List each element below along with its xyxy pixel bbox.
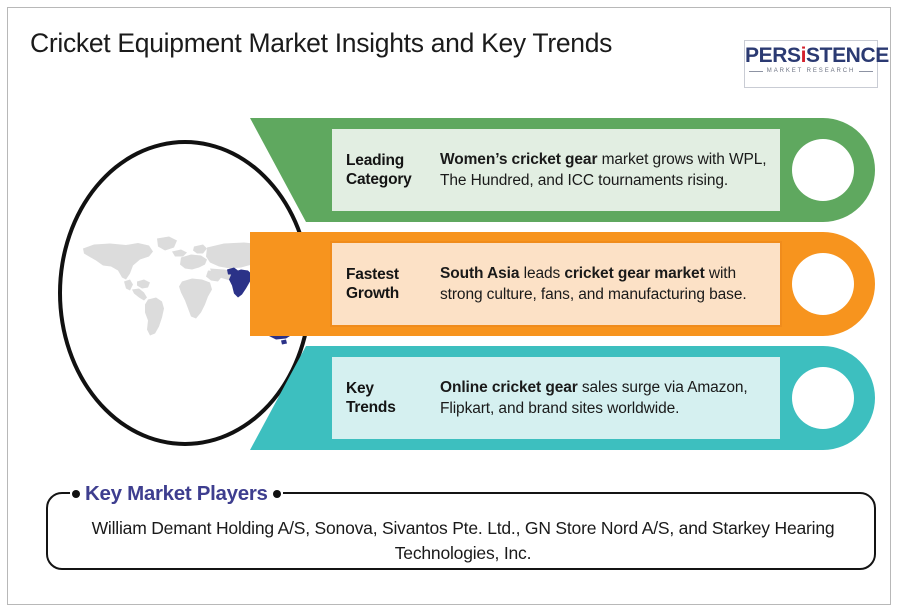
logo-subtitle: MARKET RESEARCH bbox=[767, 68, 855, 74]
logo-left-rule-icon bbox=[749, 71, 763, 72]
ribbon-category-label-line1: Leading bbox=[346, 151, 440, 170]
key-market-players-title-group: Key Market Players bbox=[70, 479, 283, 509]
ribbon-list: Leading Category Women’s cricket gear ma… bbox=[250, 118, 890, 458]
bullet-dot-right-icon bbox=[273, 490, 281, 498]
ribbon-category-label-line2: Growth bbox=[346, 284, 440, 303]
ribbon-inner-panel-teal: Key Trends Online cricket gear sales sur… bbox=[330, 355, 782, 441]
logo-word-part1: PERS bbox=[745, 44, 801, 67]
ribbon-description: South Asia leads cricket gear market wit… bbox=[440, 263, 780, 306]
ribbon-category-label-line2: Category bbox=[346, 170, 440, 189]
ribbon-end-circle-icon bbox=[792, 139, 854, 201]
ribbon-fastest-growth[interactable]: Fastest Growth South Asia leads cricket … bbox=[250, 232, 875, 336]
logo-wordmark: PERSiSTENCE bbox=[745, 44, 877, 67]
ribbon-description-highlight: Women’s cricket gear bbox=[440, 151, 597, 168]
bullet-dot-left-icon bbox=[72, 490, 80, 498]
ribbon-description-highlight-2: cricket gear market bbox=[564, 265, 704, 282]
header: Cricket Equipment Market Insights and Ke… bbox=[0, 18, 900, 88]
ribbon-category-label-line2: Trends bbox=[346, 398, 440, 417]
ribbon-description-highlight: Online cricket gear bbox=[440, 379, 578, 396]
logo-word-part2: STENCE bbox=[806, 44, 889, 67]
logo-subtitle-row: MARKET RESEARCH bbox=[745, 68, 877, 74]
page-title: Cricket Equipment Market Insights and Ke… bbox=[30, 26, 720, 60]
ribbon-category-label-line1: Fastest bbox=[346, 265, 440, 284]
ribbon-end-circle-icon bbox=[792, 367, 854, 429]
ribbon-description: Online cricket gear sales surge via Amaz… bbox=[440, 377, 780, 420]
ribbon-end-circle-icon bbox=[792, 253, 854, 315]
key-market-players-title: Key Market Players bbox=[85, 482, 268, 506]
ribbon-description-mid: leads bbox=[519, 265, 564, 282]
ribbon-category-label: Fastest Growth bbox=[332, 265, 440, 303]
ribbon-category-label: Leading Category bbox=[332, 151, 440, 189]
ribbon-leading-category[interactable]: Leading Category Women’s cricket gear ma… bbox=[250, 118, 875, 222]
ribbon-key-trends[interactable]: Key Trends Online cricket gear sales sur… bbox=[250, 346, 875, 450]
ribbon-inner-panel-green: Leading Category Women’s cricket gear ma… bbox=[330, 127, 782, 213]
ribbon-category-label-line1: Key bbox=[346, 379, 440, 398]
key-market-players-box: Key Market Players William Demant Holdin… bbox=[46, 492, 876, 570]
persistence-market-research-logo: PERSiSTENCE MARKET RESEARCH bbox=[744, 40, 878, 88]
ribbon-description-highlight: South Asia bbox=[440, 265, 519, 282]
logo-right-rule-icon bbox=[859, 71, 873, 72]
ribbon-description: Women’s cricket gear market grows with W… bbox=[440, 149, 780, 192]
infographic-canvas: Cricket Equipment Market Insights and Ke… bbox=[0, 0, 900, 614]
ribbon-category-label: Key Trends bbox=[332, 379, 440, 417]
ribbon-inner-panel-orange: Fastest Growth South Asia leads cricket … bbox=[330, 241, 782, 327]
key-market-players-text: William Demant Holding A/S, Sonova, Siva… bbox=[66, 516, 860, 566]
